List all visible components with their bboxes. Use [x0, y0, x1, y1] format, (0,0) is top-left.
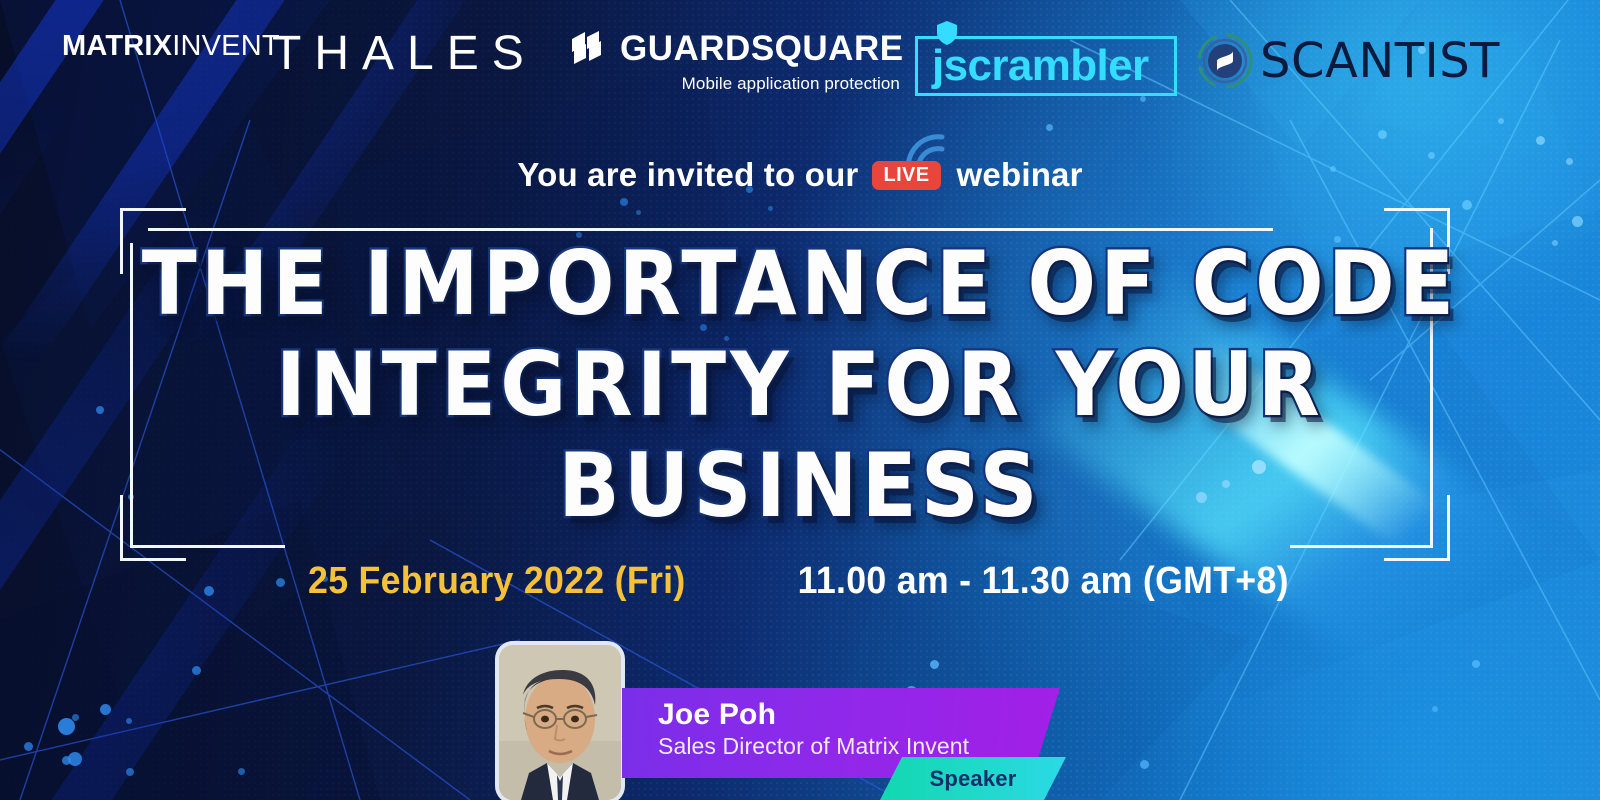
invite-text-before: You are invited to our	[517, 156, 858, 194]
title-line-1: THE IMPORTANCE OF CODE	[0, 242, 1600, 327]
title-line-2: INTEGRITY FOR YOUR	[0, 343, 1600, 428]
scantist-circle-icon	[1196, 32, 1254, 90]
logo-guardsquare-tagline: Mobile application protection	[568, 74, 900, 94]
webinar-banner: MATRIXINVENT THALES GUARDSQUARE Mobile a…	[0, 0, 1600, 800]
logo-jscrambler[interactable]: jscrambler	[915, 36, 1177, 96]
speaker-portrait-image	[499, 645, 621, 800]
speaker-name: Joe Poh	[658, 698, 1060, 733]
logo-invent-light: INVENT	[172, 30, 280, 62]
title-line-3: BUSINESS	[0, 444, 1600, 529]
speaker-tag: Speaker	[880, 757, 1066, 800]
speaker-tag-label: Speaker	[929, 766, 1016, 792]
partner-logo-bar: MATRIXINVENT THALES GUARDSQUARE Mobile a…	[0, 0, 1600, 125]
speaker-role: Sales Director of Matrix Invent	[658, 733, 1060, 761]
logo-matrix-bold: MATRIX	[62, 30, 172, 62]
speaker-section: Joe Poh Sales Director of Matrix Invent	[0, 640, 1600, 800]
guardsquare-mark-icon	[568, 28, 608, 68]
event-date: 25 February 2022 (Fri)	[308, 560, 685, 603]
logo-jscrambler-word: jscrambler	[932, 35, 1149, 97]
logo-guardsquare[interactable]: GUARDSQUARE Mobile application protectio…	[568, 28, 900, 94]
logo-matrix-invent-word: MATRIXINVENT	[62, 32, 280, 61]
logo-thales[interactable]: THALES	[272, 26, 537, 81]
live-badge: LIVE	[872, 161, 940, 190]
webinar-title: THE IMPORTANCE OF CODE INTEGRITY FOR YOU…	[0, 242, 1600, 517]
event-time: 11.00 am - 11.30 am (GMT+8)	[797, 560, 1288, 603]
invite-line: You are invited to our LIVE webinar	[0, 156, 1600, 194]
logo-guardsquare-word: GUARDSQUARE	[620, 31, 904, 66]
logo-thales-word: THALES	[272, 26, 537, 81]
speaker-photo	[499, 645, 621, 800]
logo-scantist[interactable]: SCANTIST	[1196, 32, 1500, 90]
event-datetime: 25 February 2022 (Fri) 11.00 am - 11.30 …	[0, 560, 1600, 603]
logo-scantist-word: SCANTIST	[1260, 33, 1500, 89]
invite-text-after: webinar	[957, 156, 1083, 194]
live-badge-wrap: LIVE	[872, 161, 940, 190]
logo-matrix-invent[interactable]: MATRIXINVENT	[62, 2, 262, 94]
